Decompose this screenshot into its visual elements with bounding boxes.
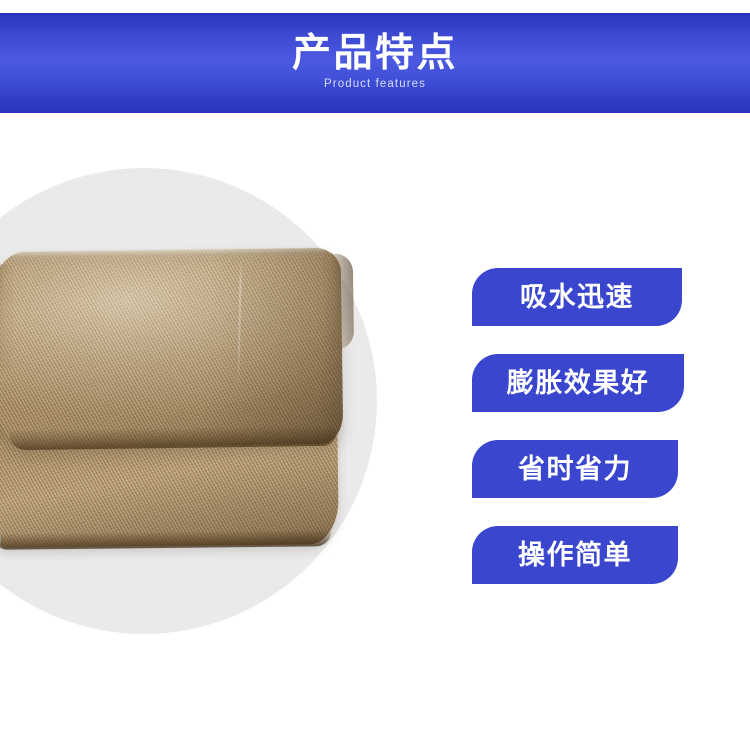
sandbag-lower-hem — [0, 530, 332, 550]
product-photo-area — [0, 113, 452, 748]
sandbag-upper-top-hem — [10, 247, 327, 264]
feature-badge-4[interactable]: 操作简单 — [472, 526, 678, 584]
sandbag-upper-right-corner — [323, 253, 354, 349]
page-subtitle: Product features — [324, 78, 426, 90]
product-features-page: 产品特点 Product features 吸水迅速 — [0, 0, 750, 748]
feature-badge-1-label: 吸水迅速 — [520, 284, 634, 311]
page-title: 产品特点 — [292, 34, 458, 75]
sandbag-upper — [0, 248, 343, 449]
feature-badge-3[interactable]: 省时省力 — [472, 440, 678, 498]
header-banner: 产品特点 Product features — [0, 13, 750, 113]
feature-badge-3-label: 省时省力 — [518, 456, 632, 483]
sandbag-upper-seam — [237, 261, 242, 383]
feature-badge-4-label: 操作简单 — [518, 542, 632, 569]
product-image-sandbags — [0, 248, 380, 568]
header-banner-content: 产品特点 Product features — [0, 13, 750, 113]
sandbag-corner-tag — [0, 532, 1, 546]
sandbag-upper-left-corner — [0, 264, 14, 368]
feature-badge-2-label: 膨胀效果好 — [507, 370, 650, 397]
feature-badge-2[interactable]: 膨胀效果好 — [472, 354, 684, 412]
feature-badge-list: 吸水迅速 膨胀效果好 省时省力 操作简单 — [472, 268, 750, 598]
feature-badge-1[interactable]: 吸水迅速 — [472, 268, 682, 326]
